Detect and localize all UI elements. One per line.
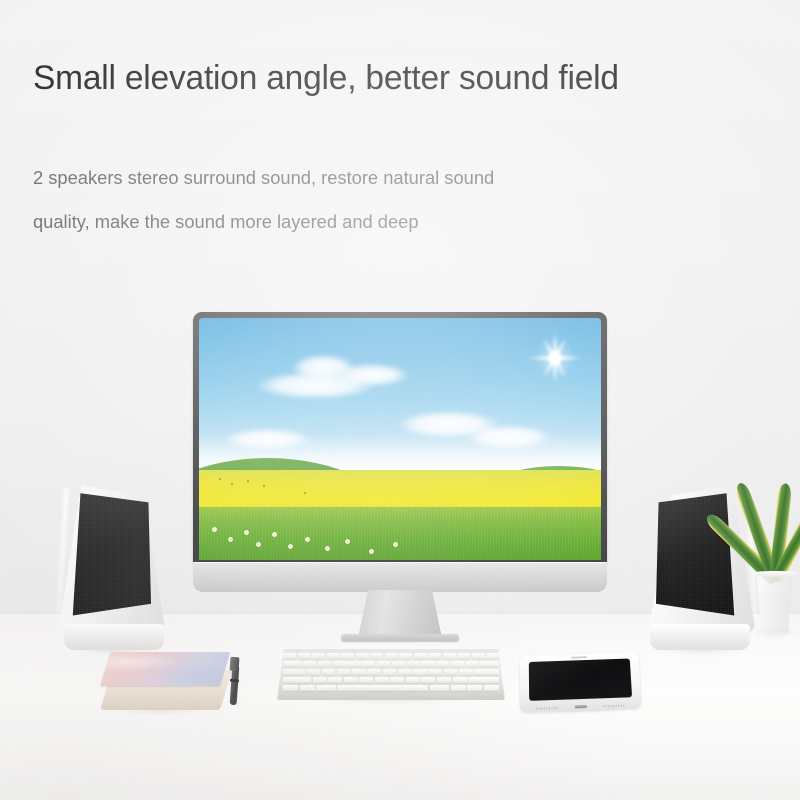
speaker-base	[64, 624, 164, 650]
phone-earpiece	[571, 656, 587, 658]
keyboard-key[interactable]	[390, 677, 404, 683]
keyboard-key[interactable]	[359, 677, 373, 683]
keyboard-key[interactable]	[444, 669, 458, 675]
monitor-chin-bar	[193, 562, 607, 592]
keyboard-key[interactable]	[407, 661, 420, 667]
keyboard-key[interactable]	[468, 677, 499, 683]
keyboard-key[interactable]	[322, 669, 336, 675]
keyboard-key[interactable]	[303, 661, 316, 667]
grass-texture	[199, 507, 601, 560]
product-banner-stage: Small elevation angle, better sound fiel…	[0, 0, 800, 800]
pen[interactable]	[228, 655, 242, 705]
keyboard-key[interactable]	[436, 661, 449, 667]
sun-icon	[523, 326, 587, 390]
pen-clip	[230, 657, 240, 672]
keyboard-key[interactable]	[283, 677, 311, 683]
keyboard-key[interactable]	[283, 685, 298, 691]
phone[interactable]	[520, 654, 640, 710]
keyboard-row	[283, 669, 499, 675]
keyboard-key[interactable]	[451, 661, 464, 667]
keyboard-key[interactable]	[383, 669, 397, 675]
keyboard-key[interactable]	[385, 653, 398, 659]
daisy-flower	[368, 548, 375, 555]
monitor-screen	[199, 318, 601, 560]
keyboard-key[interactable]	[421, 677, 435, 683]
hill-speck	[219, 478, 221, 480]
keyboard-key[interactable]	[443, 653, 456, 659]
keyboard-key[interactable]	[472, 653, 485, 659]
keyboard-key[interactable]	[337, 669, 351, 675]
pen-ring	[230, 679, 239, 683]
keyboard-row	[283, 661, 499, 667]
monitor-stand-foot	[341, 634, 459, 642]
keyboard-key[interactable]	[466, 661, 479, 667]
daisy-flower	[324, 545, 331, 552]
keyboard-key[interactable]	[486, 653, 499, 659]
keyboard-key[interactable]	[333, 661, 346, 667]
keyboard-key[interactable]	[430, 685, 450, 691]
keyboard-key[interactable]	[352, 669, 366, 675]
keyboard-key[interactable]	[298, 653, 311, 659]
keyboard-key[interactable]	[347, 661, 360, 667]
grass-foreground	[199, 507, 601, 560]
keyboard-key[interactable]	[313, 677, 327, 683]
daisy-flower	[243, 529, 250, 536]
monitor-stand-neck	[358, 590, 442, 638]
keyboard-key[interactable]	[328, 677, 342, 683]
keyboard-key[interactable]	[318, 661, 331, 667]
daisy-flower	[227, 536, 234, 543]
phone-speaker-grille	[536, 706, 558, 709]
speaker-left[interactable]	[52, 482, 174, 650]
keyboard-key[interactable]	[356, 653, 369, 659]
notebook-cover-texture	[100, 652, 230, 686]
plant-pot	[753, 573, 797, 633]
keyboard-key[interactable]	[341, 653, 354, 659]
keyboard-key[interactable]	[413, 669, 427, 675]
keyboard-key[interactable]	[362, 661, 375, 667]
keyboard-row	[283, 653, 499, 659]
keyboard-row	[283, 685, 499, 691]
keyboard-key[interactable]	[300, 685, 315, 691]
phone-charging-port	[575, 705, 587, 708]
keyboard-key[interactable]	[312, 653, 325, 659]
sun-core	[545, 348, 565, 368]
keyboard-key[interactable]	[344, 677, 358, 683]
cloud-shape	[320, 359, 425, 390]
keyboard-key[interactable]	[377, 661, 390, 667]
keyboard-key[interactable]	[480, 661, 499, 667]
daisy-flower	[304, 536, 311, 543]
keyboard-key[interactable]	[474, 669, 499, 675]
keyboard-key[interactable]	[453, 677, 467, 683]
keyboard-key[interactable]	[283, 653, 296, 659]
keyboard-key[interactable]	[451, 685, 466, 691]
keyboard-key[interactable]	[398, 669, 412, 675]
keyboard[interactable]	[277, 648, 505, 700]
hill-speck	[304, 492, 306, 494]
keyboard-key[interactable]	[399, 653, 412, 659]
daisy-flower	[211, 526, 218, 533]
plant-pot-rim	[751, 571, 799, 577]
phone-speaker-grille	[603, 704, 625, 707]
keyboard-key[interactable]	[437, 677, 451, 683]
keyboard-key[interactable]	[428, 653, 441, 659]
keyboard-key[interactable]	[370, 653, 383, 659]
keyboard-key[interactable]	[316, 685, 336, 691]
daisy-flower	[271, 531, 278, 538]
keyboard-key[interactable]	[327, 653, 340, 659]
page-title: Small elevation angle, better sound fiel…	[33, 56, 619, 100]
notebook[interactable]	[100, 652, 220, 712]
keyboard-key[interactable]	[484, 685, 499, 691]
keyboard-key[interactable]	[306, 669, 320, 675]
keyboard-key[interactable]	[283, 661, 302, 667]
keyboard-keys	[283, 653, 499, 691]
page-subtitle: 2 speakers stereo surround sound, restor…	[33, 156, 494, 244]
all-in-one-monitor	[193, 312, 607, 592]
keyboard-row	[283, 677, 499, 683]
keyboard-key[interactable]	[337, 685, 428, 691]
keyboard-key[interactable]	[459, 669, 473, 675]
daisy-flower	[392, 541, 399, 548]
keyboard-key[interactable]	[467, 685, 482, 691]
keyboard-key[interactable]	[414, 653, 427, 659]
keyboard-key[interactable]	[457, 653, 470, 659]
keyboard-key[interactable]	[283, 669, 305, 675]
daisy-flower	[287, 543, 294, 550]
monitor-bezel	[193, 312, 607, 564]
keyboard-key[interactable]	[428, 669, 442, 675]
keyboard-key[interactable]	[375, 677, 389, 683]
hill-speck	[231, 483, 233, 485]
daisy-flower	[255, 541, 262, 548]
keyboard-key[interactable]	[367, 669, 381, 675]
keyboard-key[interactable]	[406, 677, 420, 683]
keyboard-key[interactable]	[421, 661, 434, 667]
phone-screen	[529, 659, 632, 701]
subtitle-line-2: quality, make the sound more layered and…	[33, 200, 494, 244]
notebook-cover	[100, 652, 230, 686]
daisy-flower	[344, 538, 351, 545]
subtitle-line-1: 2 speakers stereo surround sound, restor…	[33, 156, 494, 200]
snake-plant	[735, 418, 800, 633]
keyboard-key[interactable]	[392, 661, 405, 667]
